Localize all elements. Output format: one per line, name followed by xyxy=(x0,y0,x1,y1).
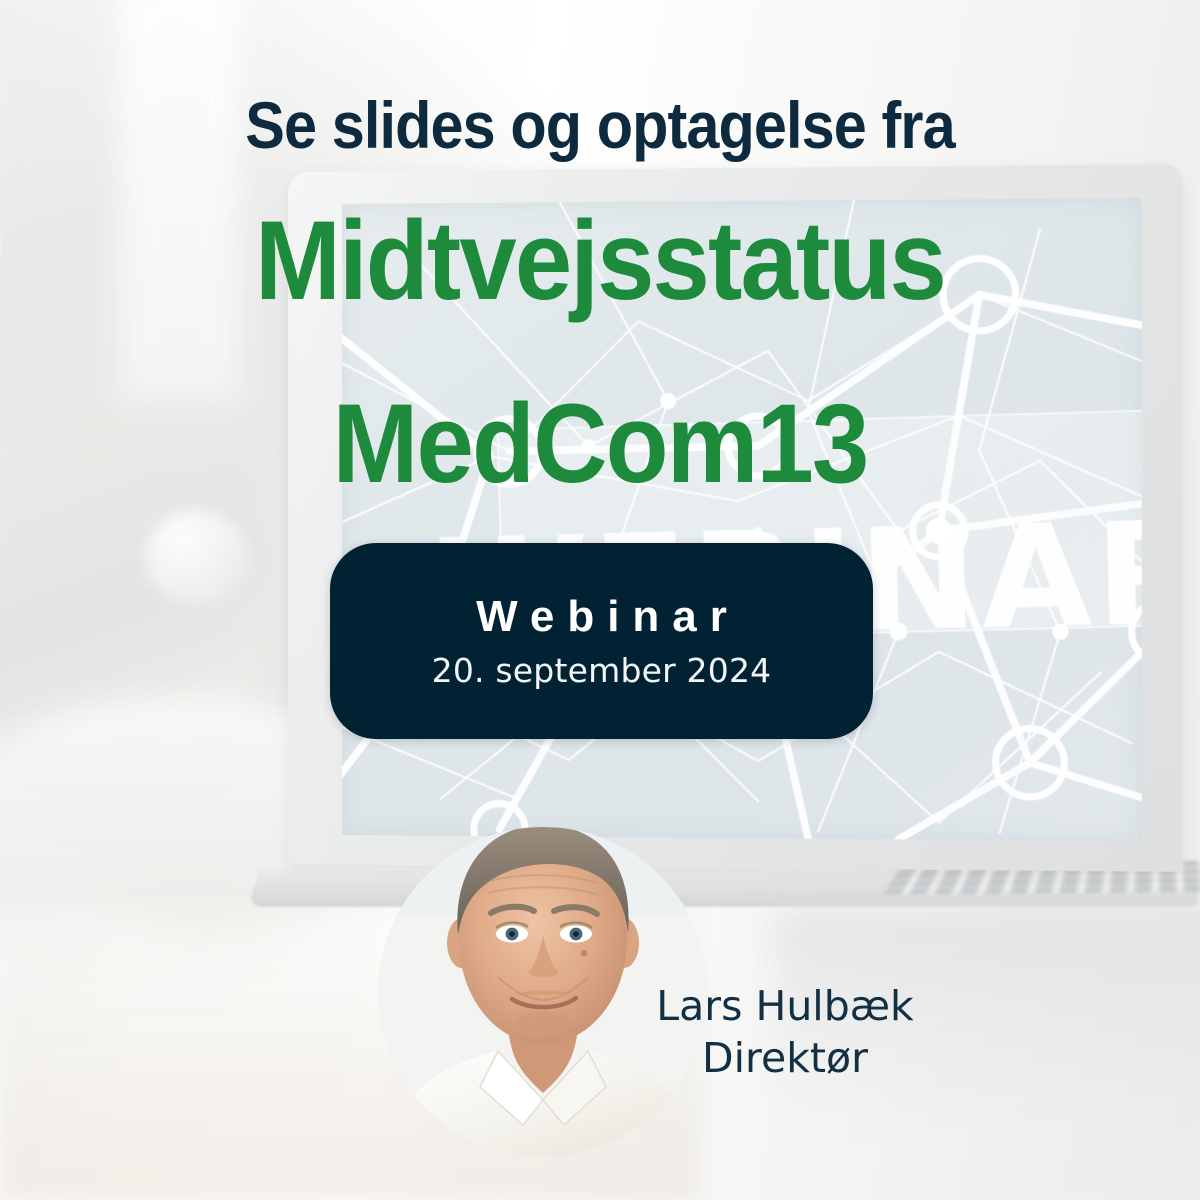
poster-canvas: WEBINAR Se slides og optagelse fra Midtv… xyxy=(0,0,1200,1200)
webinar-badge: Webinar 20. september 2024 xyxy=(330,543,873,739)
badge-date: 20. september 2024 xyxy=(432,651,772,690)
background-window xyxy=(120,0,240,400)
portrait-image xyxy=(378,795,708,1157)
speaker-caption: Lars Hulbæk Direktør xyxy=(620,980,950,1085)
speaker-portrait xyxy=(378,795,708,1157)
badge-label: Webinar xyxy=(463,592,740,642)
page-headline: Se slides og optagelse fra xyxy=(60,92,1140,158)
speaker-name: Lars Hulbæk xyxy=(620,980,950,1032)
page-title-line-1: Midtvejsstatus xyxy=(48,205,1152,317)
page-title-line-2: MedCom13 xyxy=(48,388,1152,500)
background-cup xyxy=(145,510,250,605)
speaker-role: Direktør xyxy=(620,1032,950,1084)
